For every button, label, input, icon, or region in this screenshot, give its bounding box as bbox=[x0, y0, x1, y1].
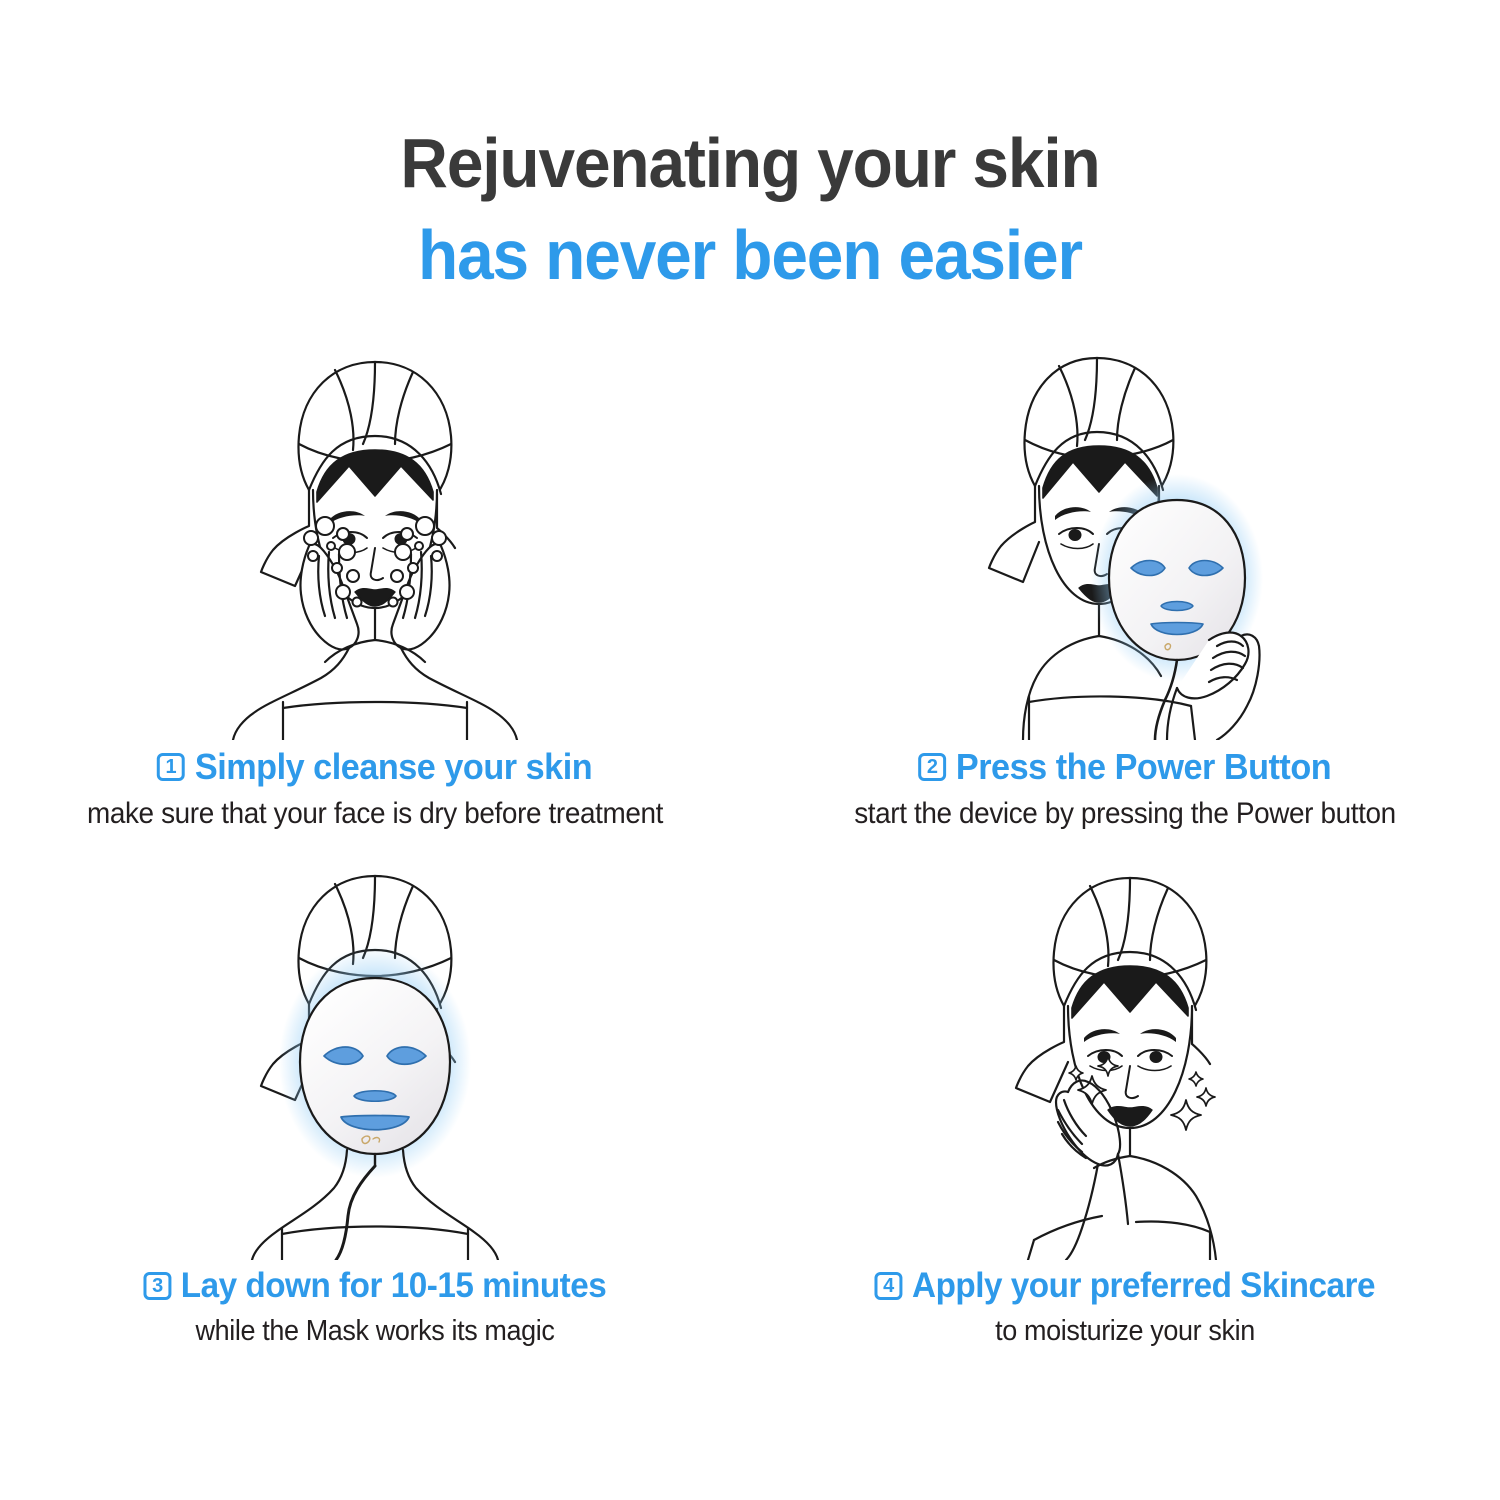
step-card-1: 1 Simply cleanse your skin make sure tha… bbox=[0, 340, 750, 860]
step-4-title: Apply your preferred Skincare bbox=[912, 1266, 1375, 1306]
step-3-illustration bbox=[0, 860, 750, 1260]
steps-grid: 1 Simply cleanse your skin make sure tha… bbox=[0, 340, 1500, 1500]
step-1-caption: 1 Simply cleanse your skin make sure tha… bbox=[0, 746, 750, 831]
page-title: Rejuvenating your skin has never been ea… bbox=[0, 0, 1500, 290]
step-1-title: Simply cleanse your skin bbox=[195, 746, 592, 788]
infographic-page: Rejuvenating your skin has never been ea… bbox=[0, 0, 1500, 1500]
step-4-subtitle: to moisturize your skin bbox=[776, 1315, 1474, 1348]
step-4-number-badge: 4 bbox=[874, 1272, 902, 1300]
step-3-subtitle: while the Mask works its magic bbox=[26, 1315, 724, 1348]
step-card-3: 3 Lay down for 10-15 minutes while the M… bbox=[0, 860, 750, 1380]
headline-line-1: Rejuvenating your skin bbox=[45, 128, 1455, 198]
step-3-title-row: 3 Lay down for 10-15 minutes bbox=[19, 1266, 732, 1306]
step-2-subtitle: start the device by pressing the Power b… bbox=[776, 797, 1474, 831]
step-2-title: Press the Power Button bbox=[956, 746, 1331, 788]
step-card-4: 4 Apply your preferred Skincare to moist… bbox=[750, 860, 1500, 1380]
step-4-illustration bbox=[750, 860, 1500, 1260]
step-2-caption: 2 Press the Power Button start the devic… bbox=[750, 746, 1500, 831]
step-2-title-row: 2 Press the Power Button bbox=[769, 746, 1482, 788]
step-3-title: Lay down for 10-15 minutes bbox=[181, 1266, 607, 1306]
step-1-title-row: 1 Simply cleanse your skin bbox=[19, 746, 732, 788]
step-1-number-badge: 1 bbox=[157, 753, 185, 781]
step-4-caption: 4 Apply your preferred Skincare to moist… bbox=[750, 1266, 1500, 1348]
step-3-number-badge: 3 bbox=[143, 1272, 171, 1300]
step-2-illustration bbox=[750, 340, 1500, 740]
step-1-subtitle: make sure that your face is dry before t… bbox=[26, 797, 724, 831]
step-1-illustration bbox=[0, 340, 750, 740]
step-3-caption: 3 Lay down for 10-15 minutes while the M… bbox=[0, 1266, 750, 1348]
step-card-2: 2 Press the Power Button start the devic… bbox=[750, 340, 1500, 860]
step-2-number-badge: 2 bbox=[918, 753, 946, 781]
headline-line-2: has never been easier bbox=[45, 220, 1455, 290]
step-4-title-row: 4 Apply your preferred Skincare bbox=[769, 1266, 1482, 1306]
